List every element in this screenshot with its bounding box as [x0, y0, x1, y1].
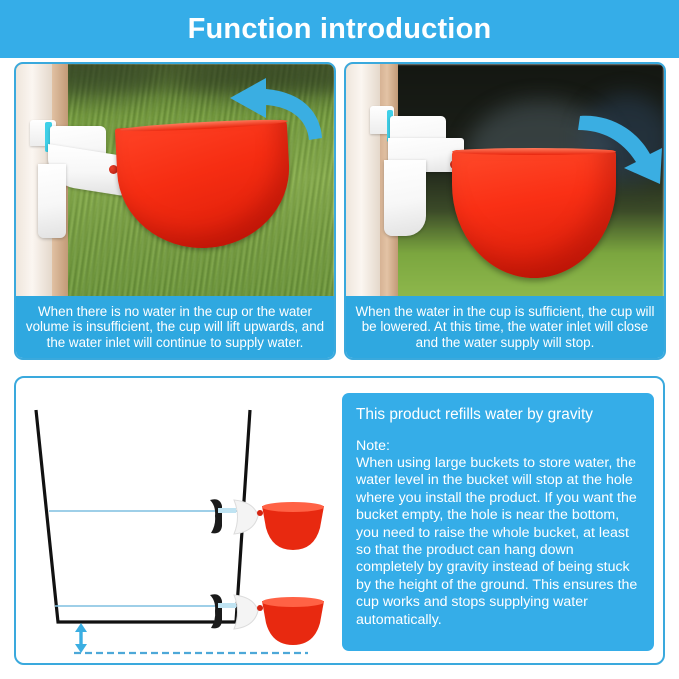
- lower-valve-white: [234, 595, 258, 629]
- right-photo-image: [346, 64, 664, 300]
- left-caption-bar: When there is no water in the cup or the…: [16, 296, 334, 358]
- valve-lower-stem: [384, 160, 426, 236]
- right-caption-bar: When the water in the cup is sufficient,…: [346, 296, 664, 358]
- upper-clip: [210, 499, 222, 533]
- left-photo-panel: When there is no water in the cup or the…: [14, 62, 336, 360]
- lower-nipple-stem: [218, 603, 236, 608]
- gravity-note-card: This product refills water by gravity No…: [342, 393, 654, 651]
- upper-valve-white: [234, 500, 258, 534]
- right-photo-panel: When the water in the cup is sufficient,…: [344, 62, 666, 360]
- upper-nipple-stem: [218, 508, 236, 513]
- ground-clearance-arrow: [75, 623, 87, 653]
- upper-red-cup: [262, 506, 324, 550]
- lower-pivot-screw: [257, 605, 263, 611]
- left-caption-text: When there is no water in the cup or the…: [22, 304, 328, 351]
- upper-cup-assembly: [210, 499, 324, 550]
- note-label: Note:: [356, 438, 640, 455]
- white-mount-post: [346, 64, 380, 300]
- valve-lower-stem: [38, 164, 66, 238]
- arrow-up-left-icon: [214, 76, 330, 142]
- lower-red-cup: [262, 601, 324, 645]
- bucket-diagram: [22, 382, 332, 660]
- note-heading: This product refills water by gravity: [356, 405, 640, 424]
- upper-pivot-screw: [257, 510, 263, 516]
- header-banner: Function introduction: [0, 0, 679, 58]
- bucket-diagram-svg: [22, 382, 332, 660]
- bottom-info-panel: This product refills water by gravity No…: [14, 376, 665, 665]
- note-body: When using large buckets to store water,…: [356, 455, 640, 629]
- arrow-down-right-icon: [576, 110, 664, 186]
- lower-cup-assembly: [210, 594, 324, 645]
- upper-cup-rim: [262, 502, 324, 512]
- lower-cup-rim: [262, 597, 324, 607]
- right-caption-text: When the water in the cup is sufficient,…: [352, 304, 658, 351]
- left-photo-image: [16, 64, 334, 300]
- page-title: Function introduction: [188, 13, 492, 46]
